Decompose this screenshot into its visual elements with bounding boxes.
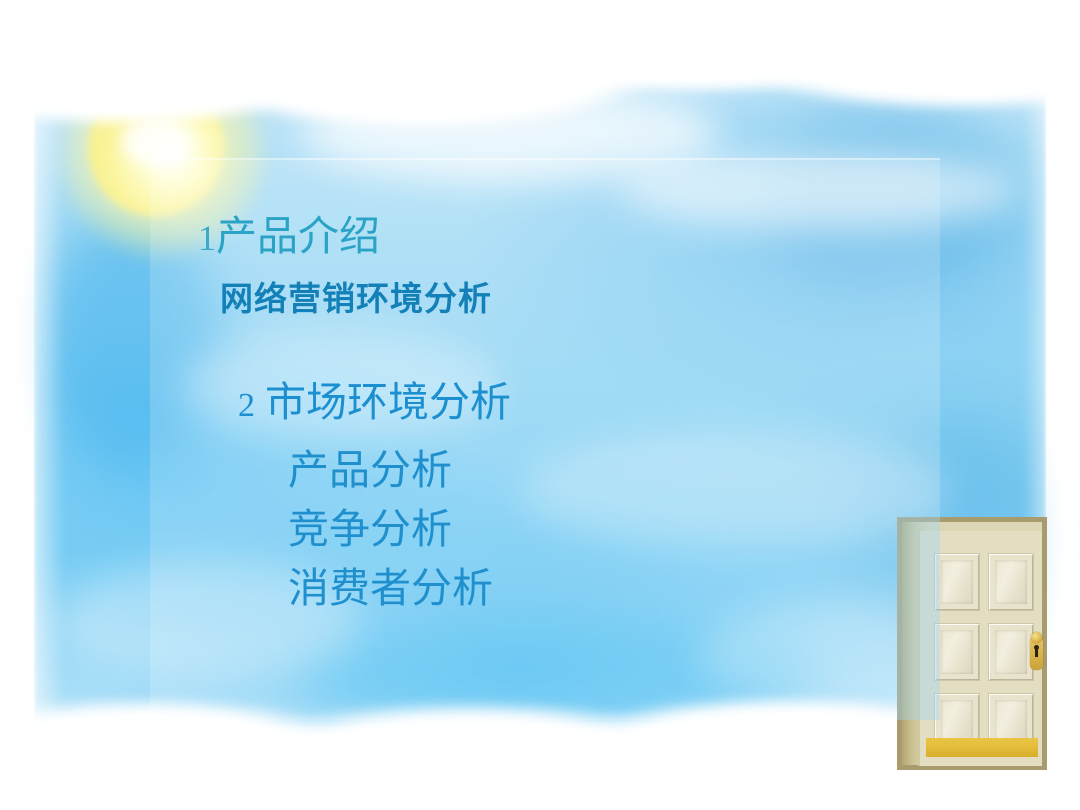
- keyhole-icon: [1035, 648, 1038, 657]
- door-photo: [897, 517, 1047, 770]
- door-kickplate: [926, 738, 1038, 757]
- list-item: 消费者分析: [288, 568, 493, 609]
- title-number: 1: [198, 218, 216, 258]
- slide-canvas: 1产品介绍 网络营销环境分析 2市场环境分析 产品分析 竞争分析 消费者分析: [0, 0, 1080, 810]
- door-slab: [918, 531, 1042, 766]
- door-panel: [988, 623, 1034, 681]
- section-text: 市场环境分析: [265, 379, 511, 425]
- title-text: 产品介绍: [216, 213, 380, 259]
- door-panel: [934, 623, 980, 681]
- door-panel: [934, 553, 980, 611]
- list-item: 产品分析: [288, 450, 452, 491]
- section-line: 2市场环境分析: [238, 382, 511, 423]
- title-line: 1产品介绍: [198, 216, 380, 257]
- subtitle-line: 网络营销环境分析: [220, 282, 492, 315]
- text-block: 1产品介绍 网络营销环境分析 2市场环境分析 产品分析 竞争分析 消费者分析: [150, 158, 940, 720]
- list-item: 竞争分析: [288, 509, 452, 550]
- section-number: 2: [238, 387, 255, 424]
- door-panel: [988, 553, 1034, 611]
- door-jamb: [902, 522, 1042, 765]
- door-knob-icon: [1031, 632, 1042, 643]
